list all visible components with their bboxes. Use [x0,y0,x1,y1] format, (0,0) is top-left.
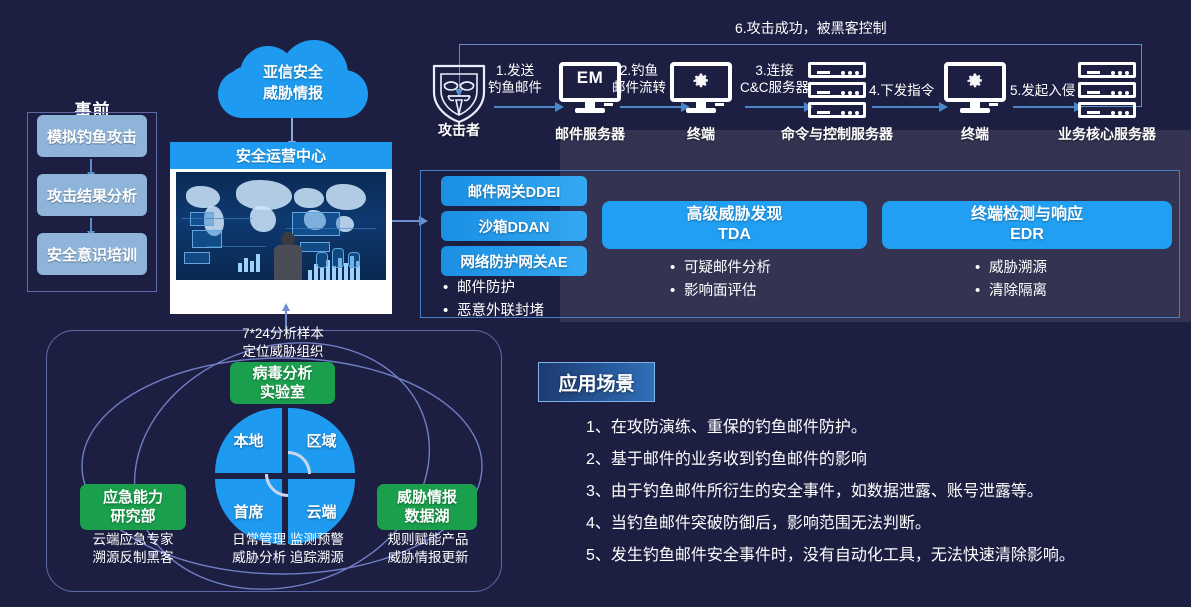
list-item: 4、当钓鱼邮件突破防御后，影响范围无法判断。 [586,508,1186,540]
virus-analysis-lab-box[interactable]: 病毒分析 实验室 [230,362,335,404]
node-label-core-business-server: 业务核心服务器 [1027,124,1187,144]
list-item: 恶意外联封堵 [441,300,544,323]
step-5-text: 5.发起入侵 [1010,82,1075,99]
pre-step-attack-result-analysis[interactable]: 攻击结果分析 [37,174,147,216]
cloud-label-line2: 威胁情报 [218,83,368,104]
threat-intel-cloud[interactable]: 亚信安全 威胁情报 [218,40,368,120]
node-cnc-server[interactable]: 命令与控制服务器 [808,62,866,118]
product-card-edr[interactable]: 终端检测与响应 EDR [882,201,1172,249]
step-2-text: 2.钓鱼 邮件流转 [612,62,666,96]
step-5-arrow-icon [1013,106,1075,108]
pre-arrow-1-icon [90,159,92,173]
gear-icon [692,72,710,90]
scenarios-badge: 应用场景 [538,362,655,402]
soc-panel[interactable]: 安全运营中心 [170,142,392,314]
node-label-cnc-server: 命令与控制服务器 [757,124,917,144]
feedback-label: 6.攻击成功，被黑客控制 [735,18,887,38]
card-tda-line1: 高级威胁发现 [686,205,782,225]
soc-title: 安全运营中心 [170,142,392,169]
step-1-text: 1.发送 钓鱼邮件 [488,62,542,96]
analyst-quadrant-wheel[interactable]: 本地 区域 首席 云端 [215,408,355,544]
gear-icon [966,72,984,90]
step-3-text: 3.连接 C&C服务器 [740,62,809,96]
anonymous-shield-icon [430,58,488,124]
server-rack-icon [1078,62,1136,118]
feedback-line-top [459,44,1142,45]
product-card-tda[interactable]: 高级威胁发现 TDA [602,201,867,249]
soc-right-arrow-icon [392,220,420,222]
node-core-business-server[interactable]: 业务核心服务器 [1078,62,1136,118]
step-4-arrow-icon [872,106,940,108]
list-item: 可疑邮件分析 [668,257,771,280]
step-1-arrow-icon [494,106,556,108]
scenarios-list: 1、在攻防演练、重保的钓鱼邮件防护。 2、基于邮件的业务收到钓鱼邮件的影响 3、… [586,412,1186,572]
list-item: 1、在攻防演练、重保的钓鱼邮件防护。 [586,412,1186,444]
list-item: 影响面评估 [668,280,771,303]
product-pill-ddei[interactable]: 邮件网关DDEI [441,176,587,206]
node-attacker[interactable]: 攻击者 [430,58,488,124]
threat-intel-lake-box[interactable]: 威胁情报 数据湖 [377,484,477,530]
research-caption: 云端应急专家 溯源反制黑客 [62,531,204,567]
list-item: 2、基于邮件的业务收到钓鱼邮件的影响 [586,444,1186,476]
node-endpoint-1[interactable]: 终端 [670,62,732,114]
monitor-gear-icon [944,62,1006,114]
card-edr-line2: EDR [1010,225,1044,245]
list-item: 威胁溯源 [973,257,1047,280]
soc-operator-figure [274,232,302,280]
cloud-down-arrow-icon [291,118,293,142]
list-item: 5、发生钓鱼邮件安全事件时，没有自动化工具，无法快速清除影响。 [586,540,1186,572]
cloud-label: 亚信安全 威胁情报 [218,62,368,104]
monitor-gear-icon [670,62,732,114]
quadrant-caption: 日常管理 监测预警 威胁分析 追踪溯源 [212,531,364,567]
feedback-line-right [1141,44,1142,107]
gateway-bullets: 邮件防护 恶意外联封堵 [441,277,544,323]
card-edr-line1: 终端检测与响应 [971,205,1083,225]
product-pill-ae[interactable]: 网络防护网关AE [441,246,587,276]
emergency-research-box[interactable]: 应急能力 研究部 [80,484,186,530]
edr-bullets: 威胁溯源 清除隔离 [973,257,1047,303]
node-endpoint-2[interactable]: 终端 [944,62,1006,114]
tda-bullets: 可疑邮件分析 影响面评估 [668,257,771,303]
lab-caption: 7*24分析样本 定位威胁组织 [218,325,348,361]
pre-arrow-2-icon [90,218,92,232]
slide-root: 事前 模拟钓鱼攻击 攻击结果分析 安全意识培训 亚信安全 威胁情报 安全运营中心 [0,0,1191,607]
soc-dashboard-image [176,172,386,280]
product-pill-ddan[interactable]: 沙箱DDAN [441,211,587,241]
pre-step-security-awareness-training[interactable]: 安全意识培训 [37,233,147,275]
lake-caption: 规则赋能产品 威胁情报更新 [366,531,490,567]
list-item: 3、由于钓鱼邮件所衍生的安全事件，如数据泄露、账号泄露等。 [586,476,1186,508]
list-item: 邮件防护 [441,277,544,300]
step-3-arrow-icon [745,106,805,108]
card-tda-line2: TDA [718,225,751,245]
pre-step-simulated-phishing[interactable]: 模拟钓鱼攻击 [37,115,147,157]
cloud-label-line1: 亚信安全 [218,62,368,83]
server-rack-icon [808,62,866,118]
list-item: 清除隔离 [973,280,1047,303]
step-4-text: 4.下发指令 [869,82,934,99]
